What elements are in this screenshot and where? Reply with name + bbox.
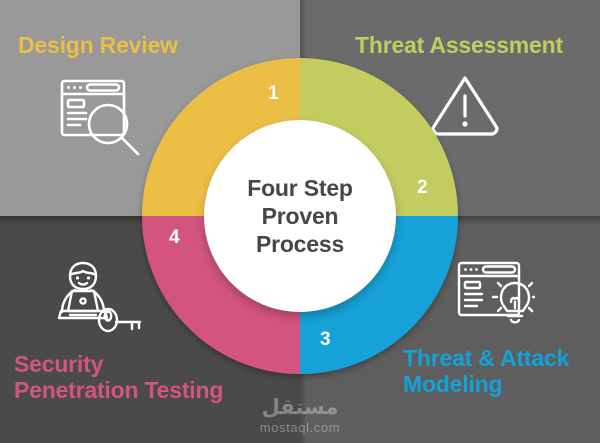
infographic-canvas: Design Review Threat Assessment [0, 0, 600, 443]
step-2-number: 2 [417, 178, 428, 197]
warning-triangle-icon [429, 72, 595, 143]
center-circle: Four Step Proven Process [204, 120, 396, 312]
center-title: Four Step Proven Process [247, 174, 353, 258]
step-1-number: 1 [268, 84, 279, 103]
step-4-number: 4 [169, 228, 180, 247]
threat-assessment-label: Threat Assessment [355, 32, 595, 58]
threat-attack-modeling-label: Threat & Attack Modeling [403, 345, 600, 397]
step-3-number: 3 [320, 330, 331, 349]
design-review-label: Design Review [18, 32, 280, 58]
browser-lightbulb-icon [455, 258, 600, 333]
